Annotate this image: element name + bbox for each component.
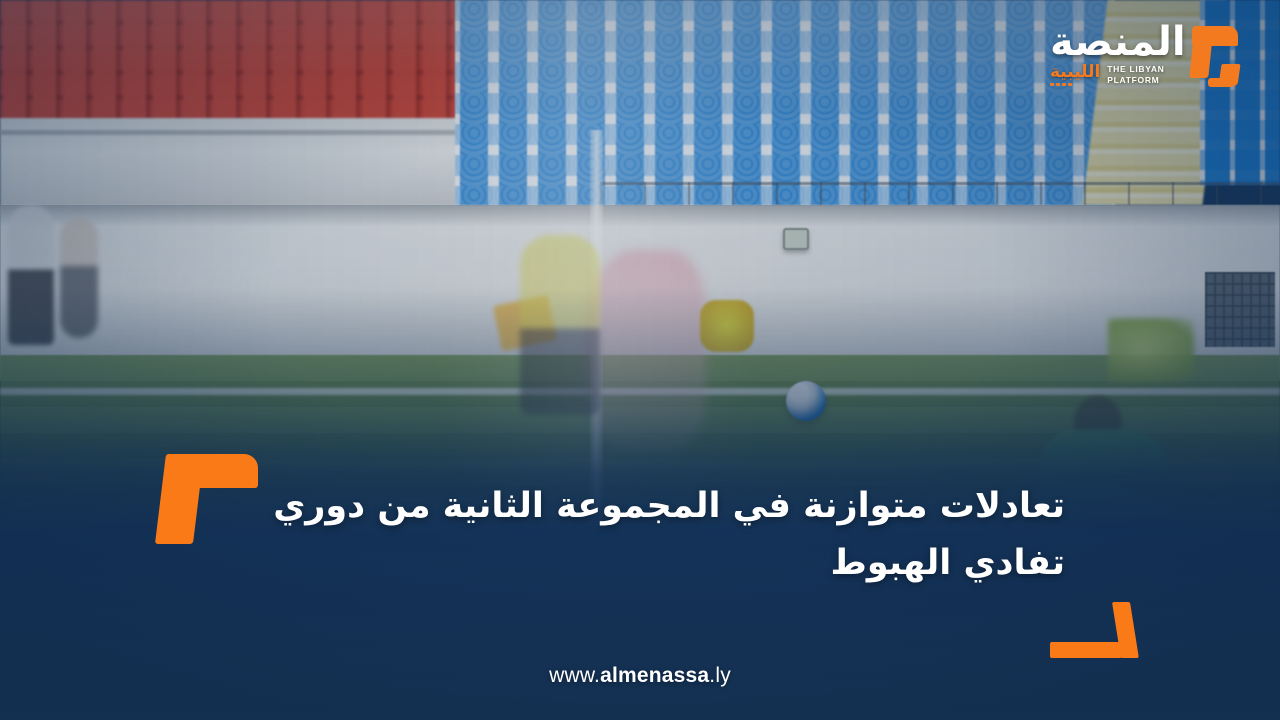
brand-name-english: THE LIBYAN PLATFORM [1107, 64, 1164, 87]
site-url-main: almenassa [600, 664, 709, 687]
brand-name-arabic: المنصة [1050, 22, 1186, 62]
brand-en-line-2: PLATFORM [1107, 75, 1159, 86]
brand-en-line-1: THE LIBYAN [1107, 64, 1164, 75]
brand-name-arabic-sub: الليبية [1050, 64, 1100, 81]
brand-dots-icon [1050, 83, 1100, 86]
brand-logo-text: المنصة THE LIBYAN PLATFORM الليبية [1050, 22, 1186, 87]
site-url[interactable]: www.almenassa.ly [0, 664, 1280, 688]
headline-text: تعادلات متوازنة في المجموعة الثانية من د… [195, 478, 1065, 591]
brand-sub-arabic-wrap: الليبية [1050, 64, 1100, 86]
brand-subtitle-row: THE LIBYAN PLATFORM الليبية [1050, 64, 1165, 87]
orange-corner-shape [1050, 602, 1130, 658]
news-card: 2 [0, 0, 1280, 720]
site-url-suffix: .ly [709, 664, 731, 687]
almenassa-monogram-icon [1186, 24, 1242, 84]
brand-logo[interactable]: المنصة THE LIBYAN PLATFORM الليبية [1050, 12, 1240, 96]
site-url-prefix: www. [549, 664, 600, 687]
